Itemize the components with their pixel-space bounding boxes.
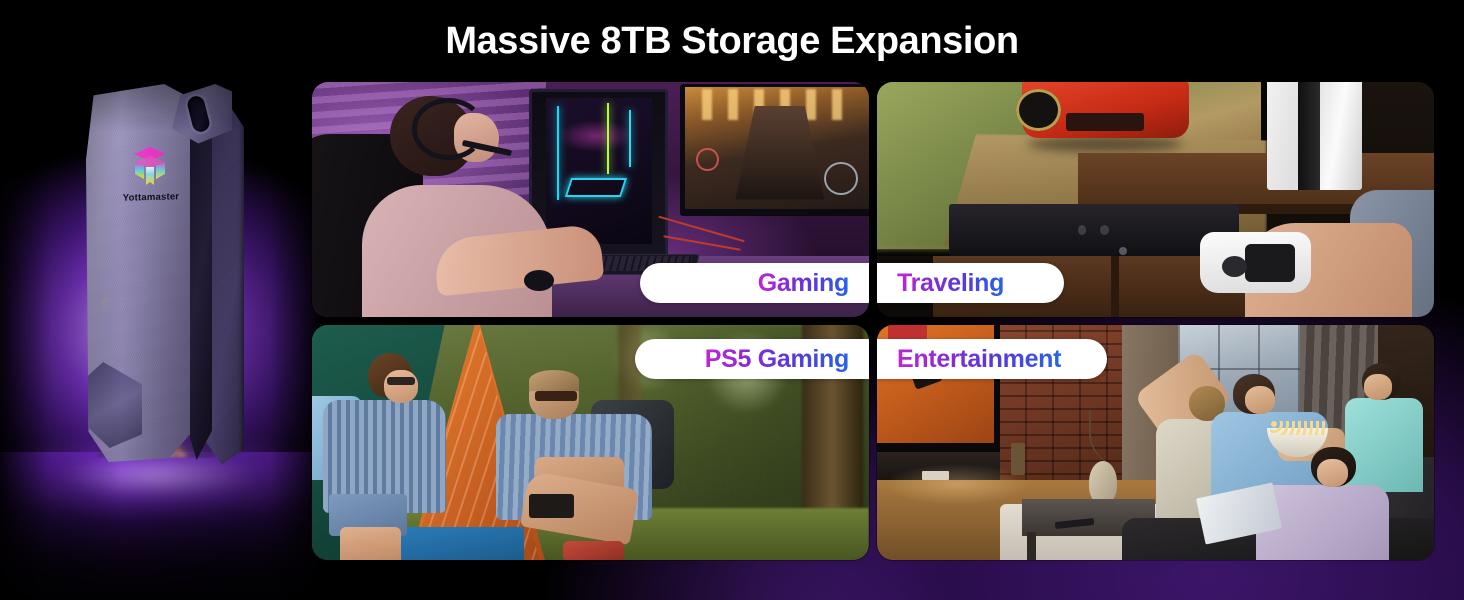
tile-gaming[interactable]: Gaming <box>312 82 869 317</box>
tile-label-text: PS5 Gaming <box>705 345 849 374</box>
use-case-grid: Gaming <box>312 82 1434 560</box>
tile-label-text: Entertainment <box>897 345 1061 374</box>
tile-ps5-gaming[interactable]: PS5 Gaming <box>312 325 869 560</box>
tile-label-text: Gaming <box>758 269 849 298</box>
page-title: Massive 8TB Storage Expansion <box>0 20 1464 63</box>
hero-vignette <box>0 0 320 600</box>
tile-traveling[interactable]: Traveling <box>877 82 1434 317</box>
product-hero: Yottamaster <box>0 0 320 600</box>
tile-label-ps5-gaming: PS5 Gaming <box>635 339 869 379</box>
tile-entertainment[interactable]: Entertainment <box>877 325 1434 560</box>
tile-label-gaming: Gaming <box>640 263 869 303</box>
tile-label-text: Traveling <box>897 269 1004 298</box>
tile-label-entertainment: Entertainment <box>877 339 1107 379</box>
tile-label-traveling: Traveling <box>877 263 1064 303</box>
product-banner: Massive 8TB Storage Expansion <box>0 0 1464 600</box>
